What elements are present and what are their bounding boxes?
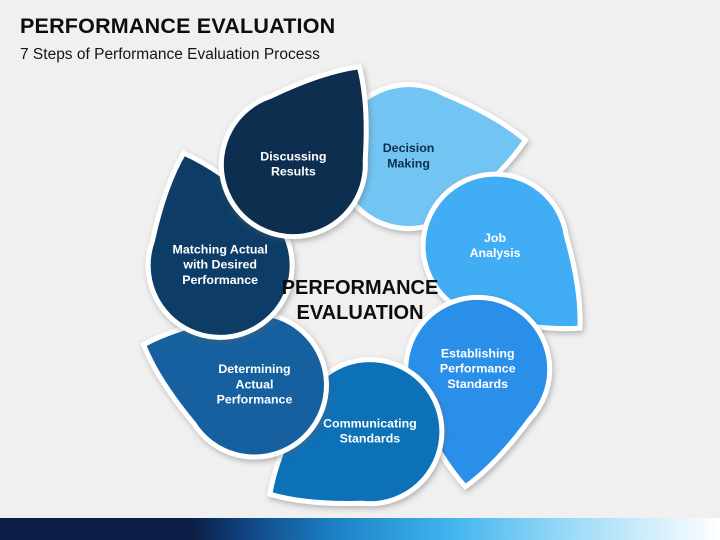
cycle-step-label-decision-making-line2: Making [387,156,430,170]
cycle-step-label-communicating-standards-line2: Standards [340,432,401,446]
slide-canvas: PERFORMANCE EVALUATION 7 Steps of Perfor… [0,0,720,540]
page-title: PERFORMANCE EVALUATION [20,14,620,39]
cycle-step-label-matching-actual-with-desired-performance-line2: with Desired [182,258,257,272]
cycle-step-label-discussing-results-line1: Discussing [260,149,326,163]
slide-header: PERFORMANCE EVALUATION 7 Steps of Perfor… [20,14,620,64]
cycle-step-label-establishing-performance-standards-line1: Establishing [441,346,515,360]
center-label: PERFORMANCE EVALUATION [282,277,439,324]
cycle-step-label-establishing-performance-standards-line2: Performance [440,362,516,376]
cycle-step-label-determining-actual-performance-line2: Actual [236,377,274,391]
cycle-step-label-matching-actual-with-desired-performance-line3: Performance [182,273,258,287]
center-label-line2: EVALUATION [296,302,423,324]
cycle-step-label-establishing-performance-standards-line3: Standards [447,377,508,391]
cycle-step-label-job-analysis-line2: Analysis [470,246,521,260]
cycle-step-label-discussing-results-line2: Results [271,165,316,179]
cycle-step-discussing-results[interactable]: DiscussingResults [221,67,366,237]
cycle-step-label-communicating-standards-line1: Communicating [323,416,417,430]
cycle-step-label-matching-actual-with-desired-performance-line1: Matching Actual [173,242,268,256]
performance-evaluation-cycle-diagram: DecisionMakingJobAnalysisEstablishingPer… [0,58,720,513]
center-label-line1: PERFORMANCE [282,277,439,299]
cycle-step-label-decision-making-line1: Decision [383,141,435,155]
footer-gradient-bar [0,518,720,540]
cycle-step-label-determining-actual-performance-line1: Determining [218,362,290,376]
cycle-step-label-determining-actual-performance-line3: Performance [217,393,293,407]
cycle-step-label-job-analysis-line1: Job [484,231,506,245]
footer-bar-fill [0,518,720,540]
